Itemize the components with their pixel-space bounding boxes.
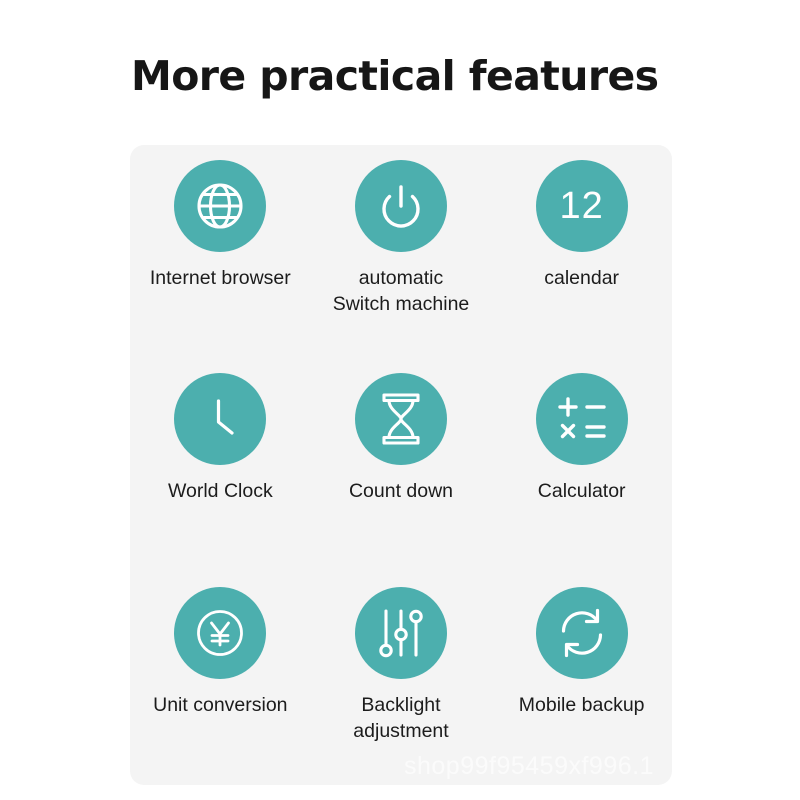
feature-label: Backlightadjustment <box>353 692 448 745</box>
feature-label-line1: Backlight <box>361 694 440 716</box>
hourglass-icon <box>355 373 447 465</box>
calculator-icon <box>536 373 628 465</box>
feature-internet-browser[interactable]: Internet browser <box>130 145 311 358</box>
calendar-icon: 12 <box>536 160 628 252</box>
calendar-day-number: 12 <box>560 187 604 225</box>
feature-label: Calculator <box>538 478 626 504</box>
sliders-icon <box>355 587 447 679</box>
page-title: More practical features <box>131 52 659 100</box>
feature-backlight-adjustment[interactable]: Backlightadjustment <box>311 572 492 785</box>
globe-icon <box>174 160 266 252</box>
feature-label: automaticSwitch machine <box>333 265 470 318</box>
clock-icon <box>174 373 266 465</box>
feature-calendar[interactable]: 12 calendar <box>491 145 672 358</box>
feature-label-line2: adjustment <box>353 720 448 742</box>
feature-label: Internet browser <box>150 265 291 291</box>
feature-label-line1: automatic <box>359 267 444 289</box>
feature-label: Count down <box>349 478 453 504</box>
features-card: Internet browser automaticSwitch machine… <box>130 145 672 785</box>
feature-label: World Clock <box>168 478 273 504</box>
feature-world-clock[interactable]: World Clock <box>130 358 311 571</box>
feature-label-line2: Switch machine <box>333 293 470 315</box>
power-icon <box>355 160 447 252</box>
sync-icon <box>536 587 628 679</box>
features-grid: Internet browser automaticSwitch machine… <box>130 145 672 785</box>
feature-showcase-page: More practical features Internet browser <box>0 0 800 800</box>
feature-label: calendar <box>544 265 619 291</box>
feature-automatic-switch-machine[interactable]: automaticSwitch machine <box>311 145 492 358</box>
feature-count-down[interactable]: Count down <box>311 358 492 571</box>
feature-calculator[interactable]: Calculator <box>491 358 672 571</box>
feature-label: Mobile backup <box>519 692 645 718</box>
yen-coin-icon <box>174 587 266 679</box>
feature-mobile-backup[interactable]: Mobile backup <box>491 572 672 785</box>
feature-unit-conversion[interactable]: Unit conversion <box>130 572 311 785</box>
feature-label: Unit conversion <box>153 692 287 718</box>
